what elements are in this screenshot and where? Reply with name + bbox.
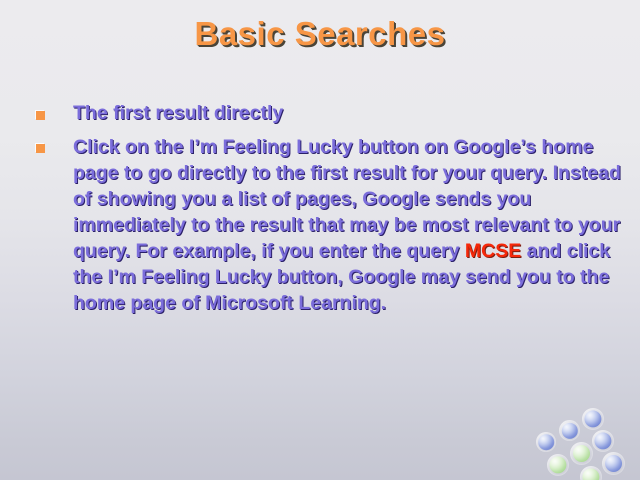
- bubble-core: [594, 432, 611, 449]
- bubble-core: [584, 410, 601, 427]
- bubble-green-icon: [547, 454, 569, 476]
- bullet-text-lucky-description: Click on the I’m Feeling Lucky button on…: [73, 136, 621, 314]
- bubble-blue-icon: [536, 432, 556, 452]
- bubble-ring: [570, 442, 593, 465]
- bubble-core: [573, 445, 591, 463]
- bubble-ring: [582, 408, 604, 430]
- bubble-ring: [592, 430, 614, 452]
- list-item: The first result directly: [0, 100, 640, 126]
- bullet-text-first-result: The first result directly: [73, 102, 283, 124]
- bubble-blue-icon: [582, 408, 604, 430]
- bullet-square-icon: [36, 111, 45, 120]
- page-title: Basic Searches: [194, 16, 445, 52]
- list-item: Click on the I’m Feeling Lucky button on…: [0, 134, 640, 316]
- bubble-ring: [580, 466, 602, 480]
- bubble-core: [582, 468, 599, 480]
- bubble-ring: [559, 420, 580, 441]
- bubble-core: [538, 434, 554, 450]
- bubble-blue-icon: [592, 430, 614, 452]
- bubble-green-icon: [570, 442, 593, 465]
- body-content: The first result directly Click on the I…: [0, 100, 640, 324]
- bubble-blue-icon: [559, 420, 580, 441]
- bubble-blue-icon: [602, 452, 625, 475]
- bubble-ring: [602, 452, 625, 475]
- bubble-core: [561, 422, 577, 438]
- bubble-ring: [547, 454, 569, 476]
- bubble-cluster-decoration: [530, 400, 640, 480]
- highlighted-query-mcse: MCSE: [465, 240, 521, 262]
- bullet-square-icon: [36, 144, 45, 153]
- title-area: Basic Searches: [0, 16, 640, 52]
- bubble-ring: [536, 432, 556, 452]
- slide-canvas: Basic Searches The first result directly…: [0, 0, 640, 480]
- bubble-green-icon: [580, 466, 602, 480]
- bubble-core: [605, 455, 623, 473]
- bubble-core: [549, 456, 566, 473]
